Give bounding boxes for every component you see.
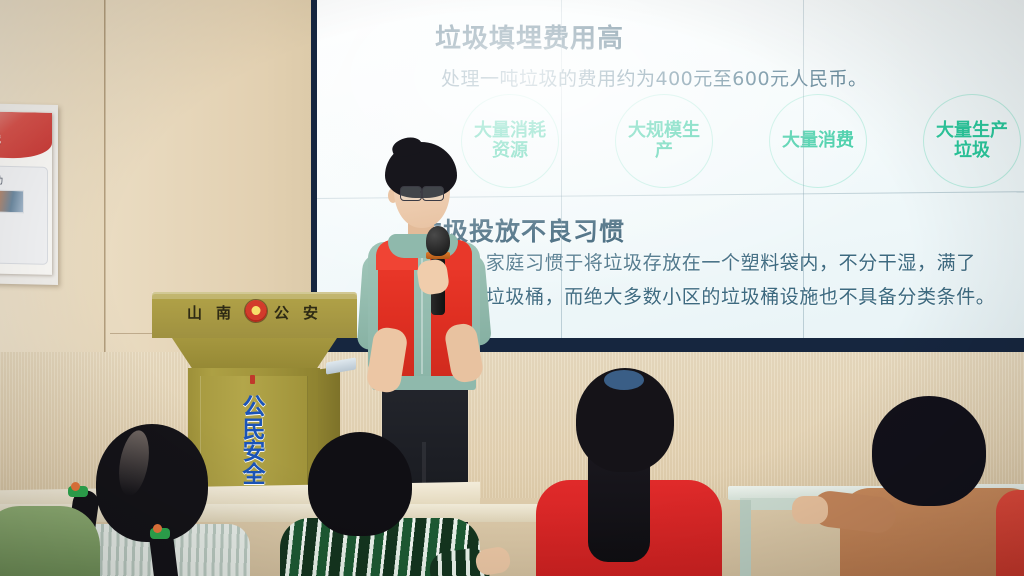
speaker-hand: [416, 258, 450, 296]
led-panel-seam-v2: [803, 0, 804, 338]
student-girl-braids-head: [96, 424, 208, 542]
podium-indicator-light: [250, 375, 255, 384]
slide-body-line-1: 目前，家庭习惯于将垃圾存放在一个塑料袋内，不分干湿，满了: [427, 248, 976, 275]
classroom-photo-scene: 实践 普活动 垃圾填埋费用高 处理一吨垃圾的费用约为400元至600元人民币。 …: [0, 0, 1024, 576]
student-partial-green: [0, 506, 100, 576]
poster-subtitle: 普活动: [0, 171, 3, 187]
poster-title: 实践: [0, 123, 50, 149]
bubble-item-3: 大量消费: [769, 94, 867, 188]
bubble-label-2: 大规模生产: [625, 121, 703, 161]
led-panel-seam-v1: [561, 0, 562, 338]
bubble-item-4: 大量生产垃圾: [923, 94, 1021, 188]
student-girl-red: [548, 368, 708, 576]
bubble-label-3: 大量消费: [779, 131, 857, 151]
eyeglasses-left-lens-icon: [400, 186, 422, 201]
poster-thumbnail-image: [0, 189, 24, 213]
hair-bead-left: [71, 482, 80, 491]
bubble-label-4: 大量生产垃圾: [933, 121, 1011, 161]
slide-body-line-2: 就扔进垃圾桶，而绝大多数小区的垃圾桶设施也不具备分类条件。: [427, 282, 995, 309]
slide-heading-1: 垃圾填埋费用高: [435, 18, 624, 55]
microphone-icon: [426, 226, 450, 256]
right-desk-leg: [740, 500, 751, 576]
student-boy-orange-hand: [792, 496, 828, 524]
bubble-item-2: 大规模生产: [615, 94, 713, 188]
student-girl-red-hair-tie: [604, 370, 644, 390]
hair-bead-right: [153, 524, 162, 533]
eyeglasses-bridge: [420, 191, 423, 193]
podium-neck: [172, 338, 337, 368]
student-boy-green-head: [308, 432, 412, 536]
police-emblem-icon: [245, 300, 267, 322]
student-partial-red: [996, 490, 1024, 576]
student-boy-orange-head: [872, 396, 986, 506]
poster-content-card: 普活动: [0, 165, 48, 265]
podium-top-highlight: [152, 292, 357, 299]
wall-poster: 实践 普活动: [0, 111, 52, 275]
eyeglasses-right-lens-icon: [422, 186, 444, 201]
student-boy-green-stripes: [280, 432, 460, 576]
